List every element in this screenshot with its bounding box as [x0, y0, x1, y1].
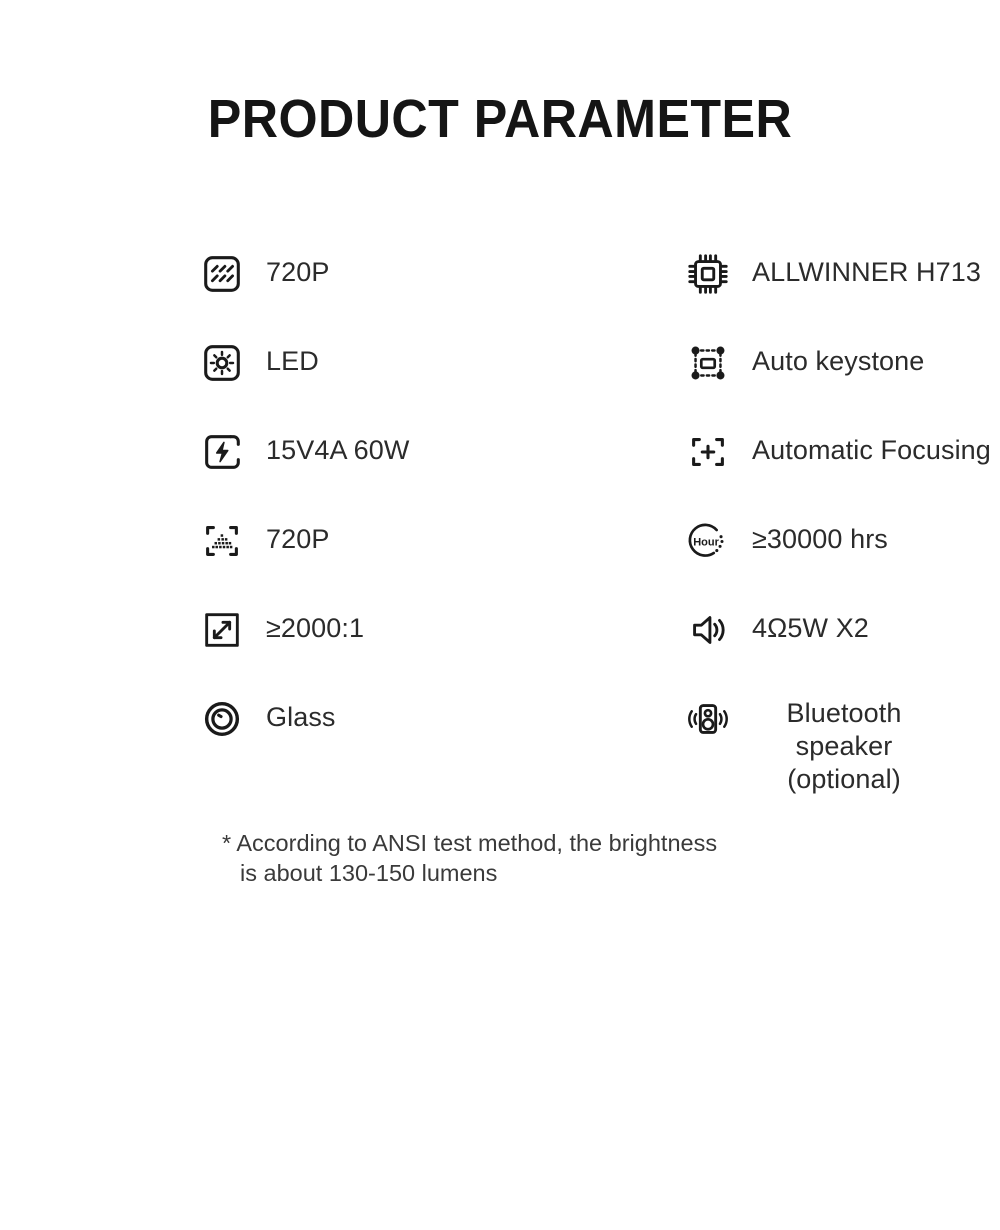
- spec-label: LED: [266, 335, 319, 387]
- spec-item-audio-output: 4Ω5W X2: [536, 602, 936, 672]
- product-parameter-page: PRODUCT PARAMETER 720P: [0, 0, 1000, 1230]
- lamp-life-hour-icon: Hour: [682, 515, 734, 567]
- contrast-ratio-icon: [196, 604, 248, 656]
- spec-item-autofocus: Automatic Focusing: [536, 424, 936, 494]
- speaker-volume-icon: [682, 604, 734, 656]
- footnote-line2: is about 130-150 lumens: [222, 858, 862, 888]
- spec-item-cpu: ALLWINNER H713: [536, 246, 936, 316]
- spec-label: ALLWINNER H713: [752, 246, 981, 298]
- spec-label: 4Ω5W X2: [752, 602, 869, 654]
- spec-item-native-resolution: 720P: [196, 513, 536, 583]
- pixel-resolution-icon: [196, 248, 248, 300]
- spec-item-light-source: LED: [196, 335, 536, 405]
- spec-grid: 720P: [196, 246, 936, 780]
- bluetooth-speaker-icon: [682, 693, 734, 745]
- spec-label-line2: (optional): [752, 763, 936, 796]
- spec-label: Bluetooth speaker (optional): [752, 697, 936, 796]
- cpu-chip-icon: [682, 248, 734, 300]
- spec-label: Glass: [266, 691, 336, 743]
- spec-label: ≥2000:1: [266, 602, 364, 654]
- spec-label: ≥30000 hrs: [752, 513, 888, 565]
- spec-label: Auto keystone: [752, 335, 924, 387]
- svg-text:Hour: Hour: [693, 536, 719, 548]
- footnote: * According to ANSI test method, the bri…: [222, 828, 862, 888]
- lens-glass-icon: [196, 693, 248, 745]
- spec-item-power: 15V4A 60W: [196, 424, 536, 494]
- spec-item-bluetooth-speaker: Bluetooth speaker (optional): [536, 691, 936, 761]
- spec-label: 720P: [266, 513, 329, 565]
- auto-focus-icon: [682, 426, 734, 478]
- spec-item-lamp-life: Hour ≥30000 hrs: [536, 513, 936, 583]
- spec-label: Automatic Focusing: [752, 424, 991, 476]
- native-resolution-icon: [196, 515, 248, 567]
- power-bolt-icon: [196, 426, 248, 478]
- brightness-led-icon: [196, 337, 248, 389]
- auto-keystone-icon: [682, 337, 734, 389]
- spec-label: 720P: [266, 246, 329, 298]
- page-title: PRODUCT PARAMETER: [35, 88, 965, 150]
- spec-item-contrast: ≥2000:1: [196, 602, 536, 672]
- spec-label-line1: Bluetooth speaker: [787, 698, 902, 761]
- spec-item-resolution: 720P: [196, 246, 536, 316]
- spec-item-keystone: Auto keystone: [536, 335, 936, 405]
- footnote-line1: * According to ANSI test method, the bri…: [222, 830, 717, 856]
- spec-label: 15V4A 60W: [266, 424, 410, 476]
- spec-item-lens: Glass: [196, 691, 536, 761]
